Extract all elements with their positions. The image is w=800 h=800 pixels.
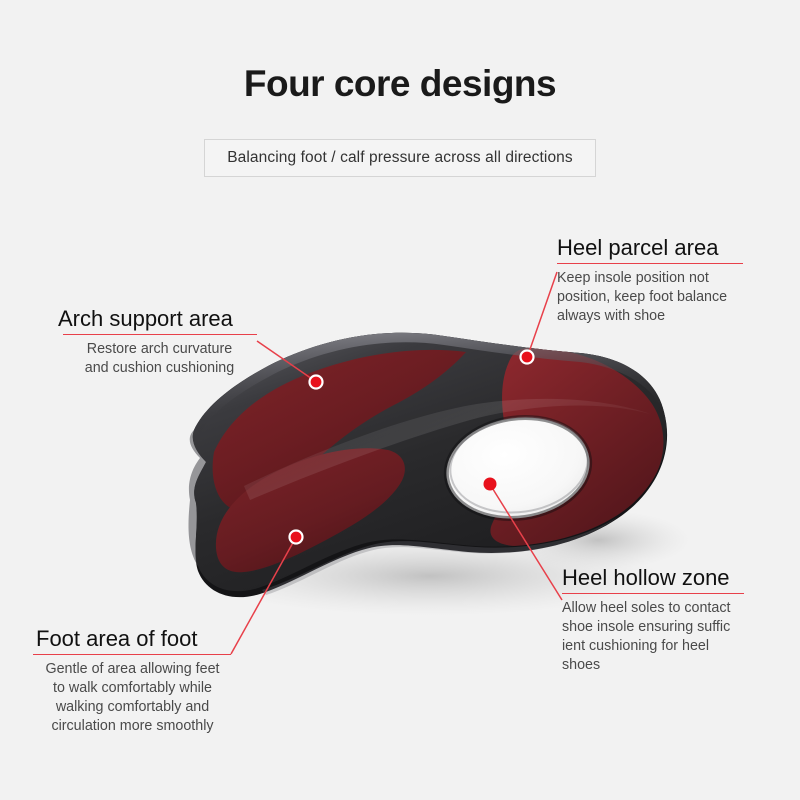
callout-foot-area: Foot area of foot Gentle of area allowin… [30, 626, 235, 736]
callout-heel-parcel-rule [557, 263, 743, 264]
callout-foot-area-body: Gentle of area allowing feet to walk com… [30, 660, 235, 735]
callout-arch-support-rule [63, 334, 257, 335]
callout-arch-support-body: Restore arch curvature and cushion cushi… [52, 340, 267, 378]
callout-arch-support: Arch support area Restore arch curvature… [52, 306, 267, 378]
callout-heel-hollow: Heel hollow zone Allow heel soles to con… [562, 565, 770, 675]
callout-heel-hollow-title: Heel hollow zone [562, 565, 770, 590]
callout-foot-area-rule [33, 654, 231, 655]
callout-heel-parcel-body: Keep insole position not position, keep … [557, 269, 772, 326]
callout-heel-hollow-rule [562, 593, 744, 594]
callout-heel-parcel-title: Heel parcel area [557, 235, 772, 260]
callout-heel-parcel: Heel parcel area Keep insole position no… [557, 235, 772, 326]
callout-heel-hollow-body: Allow heel soles to contact shoe insole … [562, 599, 770, 674]
infographic-page: Four core designs Balancing foot / calf … [0, 0, 800, 800]
callout-arch-support-title: Arch support area [58, 306, 267, 331]
callout-foot-area-title: Foot area of foot [36, 626, 235, 651]
